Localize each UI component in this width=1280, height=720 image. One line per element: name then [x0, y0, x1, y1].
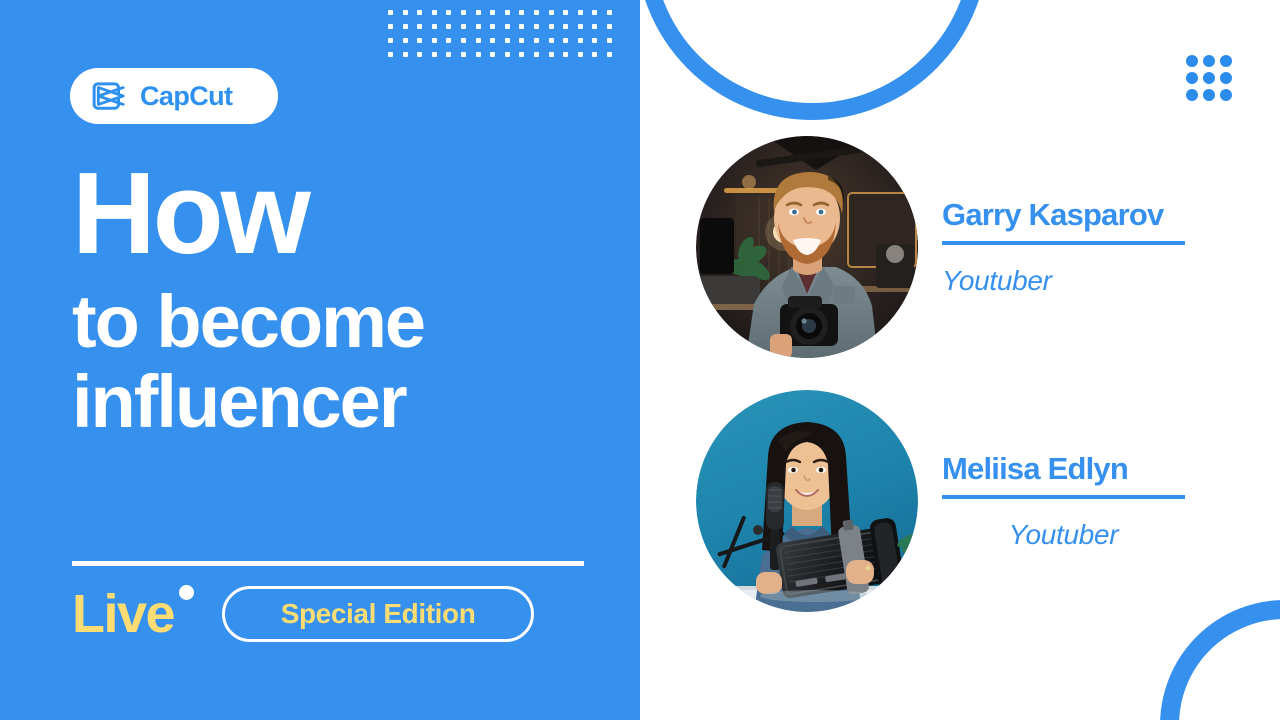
speaker-role: Youtuber: [942, 519, 1185, 551]
grid-dot: [403, 10, 408, 15]
grid-dot: [490, 52, 495, 57]
grid-dot: [534, 52, 539, 57]
grid-dot: [549, 52, 554, 57]
grid-dot: [1186, 72, 1198, 84]
grid-dot: [432, 52, 437, 57]
grid-dot: [388, 52, 393, 57]
grid-dot: [534, 10, 539, 15]
grid-dot: [490, 38, 495, 43]
grid-dot: [432, 10, 437, 15]
live-badge-row: Live Special Edition: [72, 584, 534, 644]
grid-dot: [1203, 72, 1215, 84]
speaker-name: Meliisa Edlyn: [942, 451, 1185, 495]
grid-dot: [505, 24, 510, 29]
grid-dot: [1186, 89, 1198, 101]
speaker-info-2: Meliisa Edlyn Youtuber: [942, 451, 1185, 551]
speaker-name-underline: [942, 495, 1185, 499]
grid-dot: [578, 24, 583, 29]
grid-dot: [1186, 55, 1198, 67]
live-status-dot-icon: [179, 585, 194, 600]
grid-dot: [403, 24, 408, 29]
headline-line-1: How: [72, 160, 612, 267]
speaker-info-1: Garry Kasparov Youtuber: [942, 197, 1185, 297]
capcut-logo[interactable]: CapCut: [70, 68, 278, 124]
grid-dot: [446, 38, 451, 43]
grid-dot: [592, 10, 597, 15]
white-dot-grid-icon: [388, 10, 618, 62]
grid-dot: [578, 10, 583, 15]
divider: [72, 561, 584, 566]
capcut-logo-text: CapCut: [140, 81, 232, 112]
grid-dot: [534, 24, 539, 29]
speaker-photo-1: [696, 136, 918, 358]
avatar: [696, 390, 918, 612]
grid-dot: [534, 38, 539, 43]
speaker-photo-2: [696, 390, 918, 612]
grid-dot: [549, 10, 554, 15]
grid-dot: [519, 24, 524, 29]
grid-dot: [476, 10, 481, 15]
grid-dot: [490, 24, 495, 29]
grid-dot: [388, 38, 393, 43]
grid-dot: [446, 24, 451, 29]
grid-dot: [1220, 55, 1232, 67]
special-edition-label: Special Edition: [281, 598, 476, 630]
grid-dot: [403, 38, 408, 43]
special-edition-badge[interactable]: Special Edition: [222, 586, 534, 642]
capcut-hourglass-icon: [92, 81, 130, 111]
speaker-role: Youtuber: [942, 265, 1185, 297]
grid-dot: [1203, 55, 1215, 67]
grid-dot: [461, 52, 466, 57]
page-title: How to become influencer: [72, 160, 612, 439]
live-label-wrap: Live: [72, 587, 174, 641]
grid-dot: [417, 24, 422, 29]
grid-dot: [417, 52, 422, 57]
grid-dot: [446, 10, 451, 15]
grid-dot: [1203, 89, 1215, 101]
grid-dot: [403, 52, 408, 57]
grid-dot: [563, 52, 568, 57]
grid-dot: [607, 24, 612, 29]
blue-arc-bottom-right-icon: [1160, 600, 1280, 720]
grid-dot: [563, 24, 568, 29]
grid-dot: [607, 10, 612, 15]
live-label: Live: [72, 584, 174, 644]
grid-dot: [592, 38, 597, 43]
grid-dot: [417, 38, 422, 43]
blue-arc-top-right-icon: [636, 0, 988, 120]
grid-dot: [461, 24, 466, 29]
grid-dot: [519, 38, 524, 43]
speaker-name: Garry Kasparov: [942, 197, 1185, 241]
blue-dot-grid-icon: [1186, 55, 1232, 101]
grid-dot: [461, 38, 466, 43]
grid-dot: [476, 24, 481, 29]
headline-line-3: influencer: [72, 365, 612, 439]
grid-dot: [563, 38, 568, 43]
grid-dot: [549, 38, 554, 43]
grid-dot: [549, 24, 554, 29]
avatar: [696, 136, 918, 358]
speaker-name-underline: [942, 241, 1185, 245]
grid-dot: [1220, 89, 1232, 101]
grid-dot: [578, 52, 583, 57]
grid-dot: [563, 10, 568, 15]
grid-dot: [417, 10, 422, 15]
grid-dot: [519, 10, 524, 15]
grid-dot: [1220, 72, 1232, 84]
grid-dot: [592, 52, 597, 57]
speaker-card-2[interactable]: Meliisa Edlyn Youtuber: [696, 390, 1185, 612]
grid-dot: [607, 38, 612, 43]
grid-dot: [388, 10, 393, 15]
grid-dot: [388, 24, 393, 29]
grid-dot: [490, 10, 495, 15]
grid-dot: [505, 10, 510, 15]
grid-dot: [505, 38, 510, 43]
promo-poster: CapCut How to become influencer Live Spe…: [0, 0, 1280, 720]
headline-line-2: to become: [72, 285, 612, 359]
grid-dot: [505, 52, 510, 57]
grid-dot: [607, 52, 612, 57]
grid-dot: [461, 10, 466, 15]
grid-dot: [519, 52, 524, 57]
grid-dot: [446, 52, 451, 57]
grid-dot: [592, 24, 597, 29]
grid-dot: [432, 38, 437, 43]
grid-dot: [476, 52, 481, 57]
grid-dot: [432, 24, 437, 29]
grid-dot: [476, 38, 481, 43]
speaker-card-1[interactable]: Garry Kasparov Youtuber: [696, 136, 1185, 358]
grid-dot: [578, 38, 583, 43]
